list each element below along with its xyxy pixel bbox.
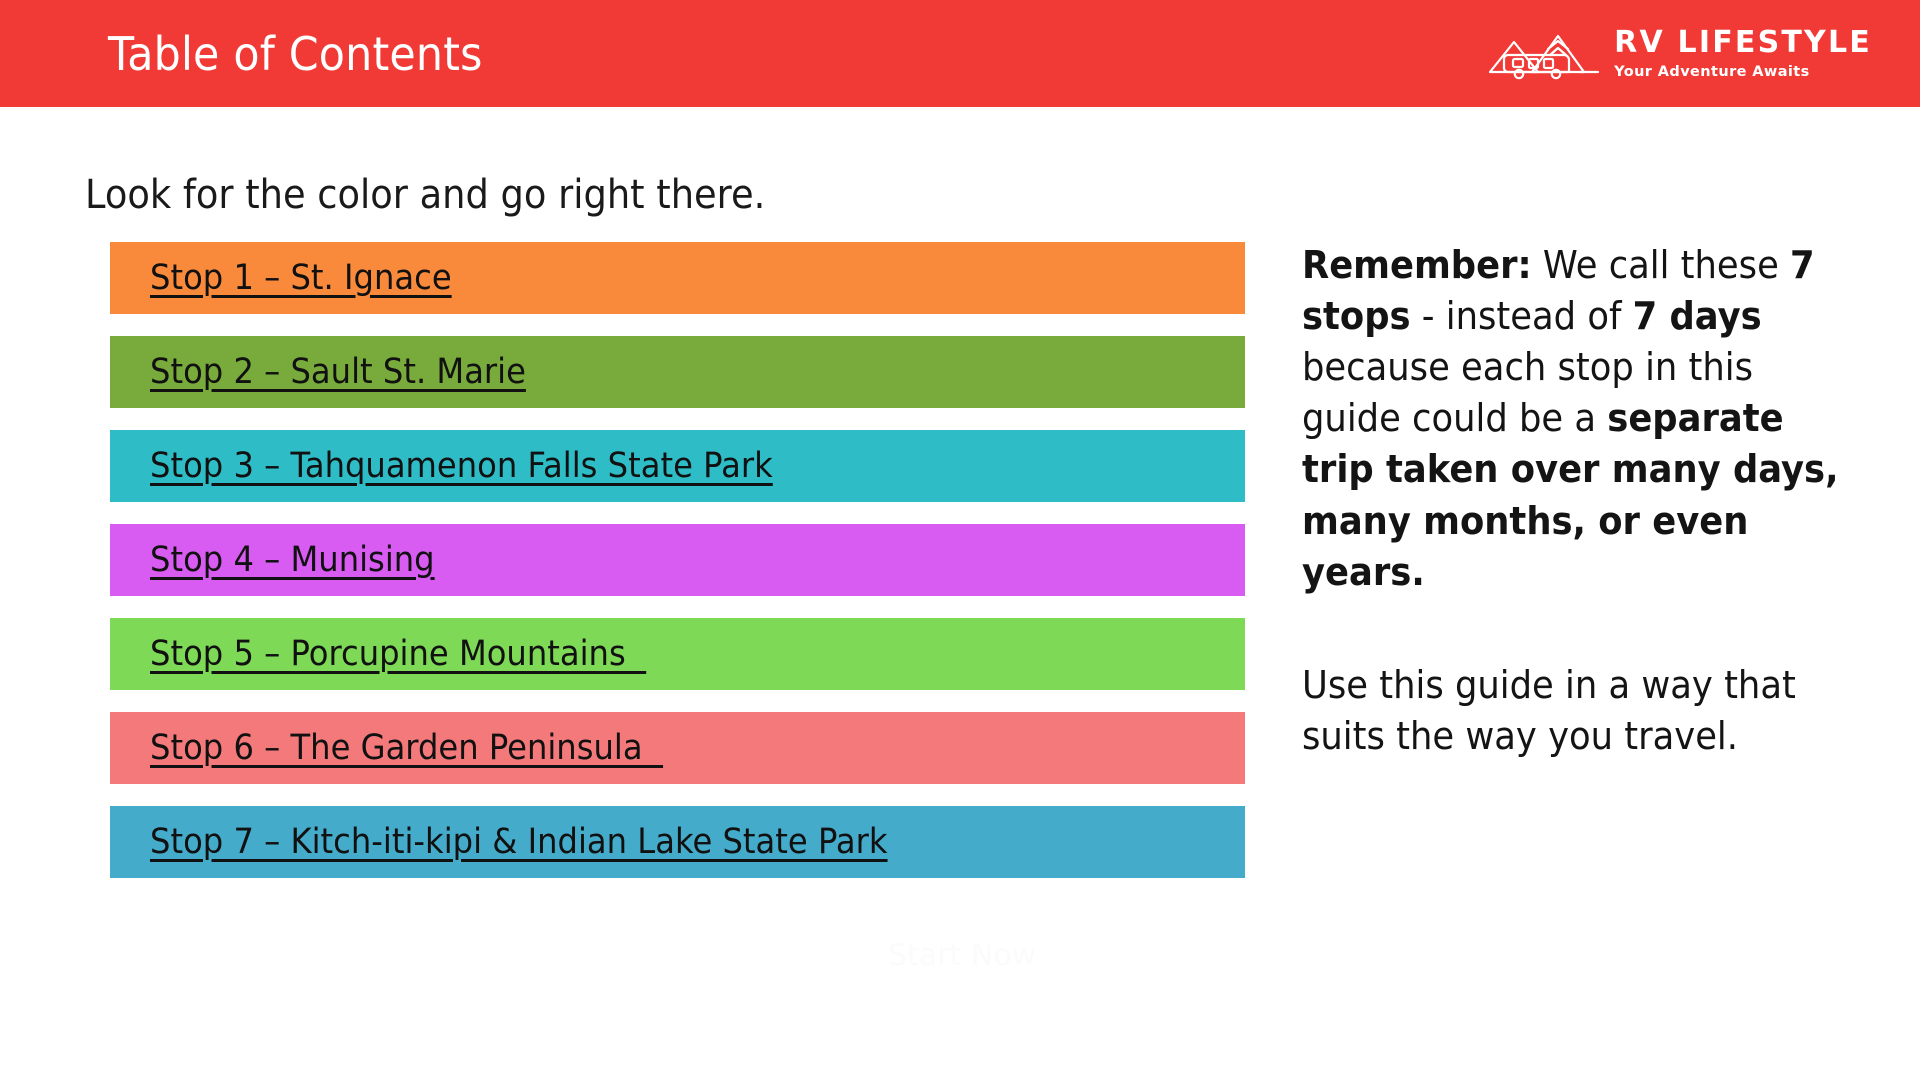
stop-link-2[interactable]: Stop 2 – Sault St. Marie: [150, 352, 526, 392]
stop-bar-7[interactable]: Stop 7 – Kitch-iti-kipi & Indian Lake St…: [110, 806, 1245, 878]
stop-bar-5[interactable]: Stop 5 – Porcupine Mountains: [110, 618, 1245, 690]
stop-bar-1[interactable]: Stop 1 – St. Ignace: [110, 242, 1245, 314]
usage-segment-0: Use this guide in a way that suits the w…: [1302, 663, 1796, 758]
stop-link-6[interactable]: Stop 6 – The Garden Peninsula: [150, 728, 663, 768]
side-column: Remember: We call these 7 stops - instea…: [1302, 240, 1884, 762]
intro-instruction: Look for the color and go right there.: [85, 172, 765, 218]
page-title: Table of Contents: [108, 27, 483, 81]
brand-tagline: Your Adventure Awaits: [1614, 65, 1809, 80]
stop-link-7[interactable]: Stop 7 – Kitch-iti-kipi & Indian Lake St…: [150, 822, 888, 862]
brand-name: RV LIFESTYLE: [1614, 28, 1872, 58]
stop-link-1[interactable]: Stop 1 – St. Ignace: [150, 258, 452, 298]
remember-paragraph: Remember: We call these 7 stops - instea…: [1302, 240, 1843, 598]
stop-list: Stop 1 – St. IgnaceStop 2 – Sault St. Ma…: [110, 242, 1245, 878]
stop-bar-4[interactable]: Stop 4 – Munising: [110, 524, 1245, 596]
brand-logo: RV LIFESTYLE Your Adventure Awaits: [1488, 25, 1872, 83]
remember-segment-0: Remember:: [1302, 243, 1532, 287]
stop-link-5[interactable]: Stop 5 – Porcupine Mountains: [150, 634, 646, 674]
page-header: Table of Contents RV LIFESTYLE Your Ad: [0, 0, 1920, 107]
brand-logo-text: RV LIFESTYLE Your Adventure Awaits: [1614, 28, 1872, 80]
rv-mountain-logo-icon: [1488, 25, 1600, 83]
start-now-watermark: Start Now: [888, 938, 1036, 973]
remember-segment-3: - instead of: [1411, 294, 1633, 338]
stop-bar-6[interactable]: Stop 6 – The Garden Peninsula: [110, 712, 1245, 784]
remember-segment-1: We call these: [1532, 243, 1790, 287]
usage-paragraph: Use this guide in a way that suits the w…: [1302, 660, 1843, 762]
stop-link-3[interactable]: Stop 3 – Tahquamenon Falls State Park: [150, 446, 773, 486]
stop-bar-2[interactable]: Stop 2 – Sault St. Marie: [110, 336, 1245, 408]
stop-link-4[interactable]: Stop 4 – Munising: [150, 540, 435, 580]
stop-bar-3[interactable]: Stop 3 – Tahquamenon Falls State Park: [110, 430, 1245, 502]
remember-segment-4: 7 days: [1633, 294, 1762, 338]
